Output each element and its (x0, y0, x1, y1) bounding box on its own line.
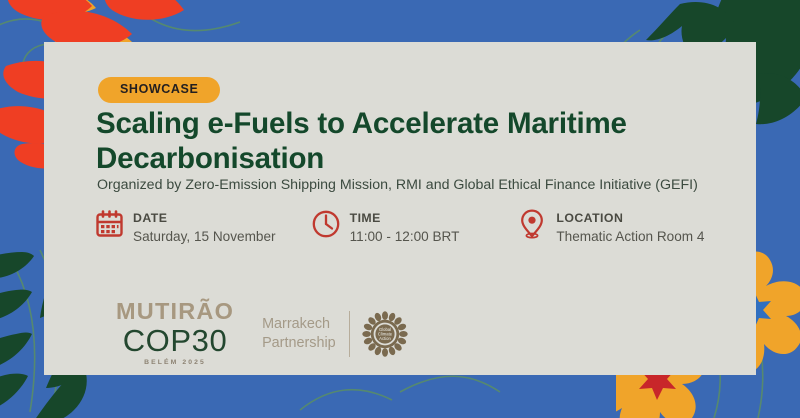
event-poster: SHOWCASE Scaling e-Fuels to Accelerate M… (0, 0, 800, 418)
event-card: SHOWCASE Scaling e-Fuels to Accelerate M… (44, 42, 756, 375)
cop30-belem-text: BELÉM 2025 (116, 360, 234, 367)
meta-value-date: Saturday, 15 November (133, 227, 276, 246)
page-title: Scaling e-Fuels to Accelerate Maritime D… (96, 107, 716, 176)
logo-row: MUTIRÃO COP30 BELÉM 2025 Marrakech Partn… (116, 300, 408, 367)
meta-label-location: LOCATION (556, 211, 623, 225)
meta-item-location: LOCATION Thematic Action Room 4 (517, 208, 734, 246)
meta-value-location: Thematic Action Room 4 (556, 227, 704, 246)
global-climate-action-seal-icon: Global Climate Action (362, 311, 408, 357)
calendar-icon (94, 208, 124, 240)
event-meta-row: DATE Saturday, 15 November TIME 11:00 - … (94, 208, 734, 246)
marrakech-partnership-text: Marrakech Partnership (262, 315, 349, 352)
organizer-line: Organized by Zero-Emission Shipping Miss… (97, 176, 747, 194)
meta-label-date: DATE (133, 211, 167, 225)
marrakech-line-1: Marrakech (262, 316, 330, 332)
logo-divider (349, 311, 350, 357)
seal-line-3: Action (379, 335, 391, 340)
cop30-logo: MUTIRÃO COP30 BELÉM 2025 (116, 300, 234, 367)
clock-icon (311, 208, 341, 240)
meta-item-date: DATE Saturday, 15 November (94, 208, 311, 246)
cop30-main-text: COP30 (116, 325, 234, 358)
marrakech-partnership-logo: Marrakech Partnership (262, 311, 408, 357)
marrakech-line-2: Partnership (262, 335, 336, 351)
meta-label-time: TIME (350, 211, 381, 225)
showcase-badge: SHOWCASE (98, 77, 220, 103)
map-pin-icon (517, 208, 547, 240)
meta-item-time: TIME 11:00 - 12:00 BRT (311, 208, 518, 246)
meta-value-time: 11:00 - 12:00 BRT (350, 227, 460, 246)
cop30-mutirao-text: MUTIRÃO (116, 300, 234, 324)
